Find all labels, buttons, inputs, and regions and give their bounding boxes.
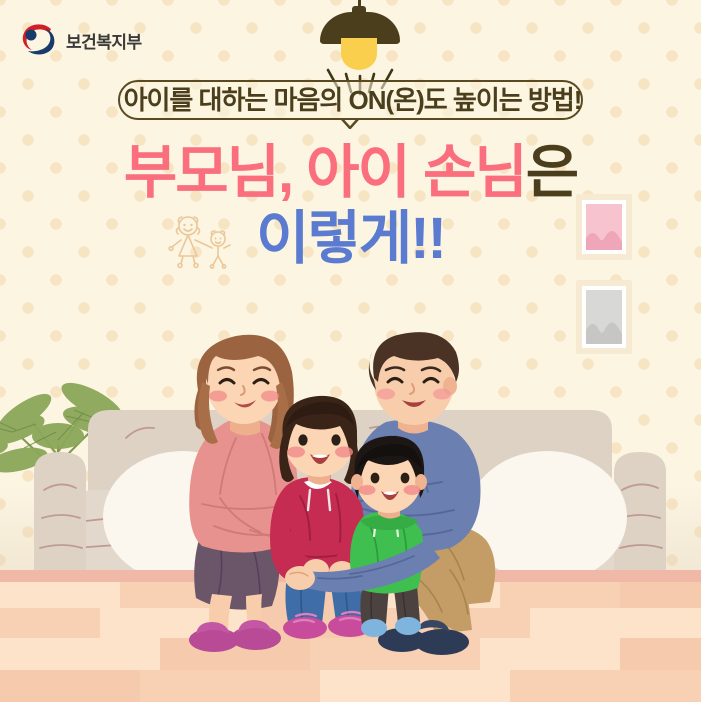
parent-child-doodle-icon <box>166 214 234 270</box>
subtitle-bubble: 아이를 대하는 마음의 ON(온)도 높이는 방법! <box>118 80 583 120</box>
girl-figure <box>270 396 372 639</box>
title-line1-dark: 은 <box>526 140 577 205</box>
logo-text: 보건복지부 <box>66 28 142 53</box>
title-line2-blue: 이렇게!! <box>256 206 445 271</box>
title-line1-pink: 부모님, 아이 손님 <box>124 140 526 205</box>
subtitle-text: 아이를 대하는 마음의 ON(온)도 높이는 방법! <box>120 82 585 118</box>
mother-slipper-right <box>231 626 281 650</box>
taegeuk-icon <box>18 22 58 58</box>
family-illustration <box>150 330 570 660</box>
boy-sock-right <box>395 617 421 635</box>
frame-art-bottom-icon <box>586 290 622 344</box>
boy-figure <box>350 436 427 637</box>
ministry-logo: 보건복지부 <box>18 22 168 58</box>
title-line-1: 부모님, 아이 손님은 <box>0 142 701 204</box>
card-news-poster: 보건복지부 아이를 대하는 마음의 ON(온)도 높이는 방법! 부모님, 아이… <box>0 0 701 702</box>
bubble-tail-icon <box>341 118 359 129</box>
boy-sock-left <box>361 619 387 637</box>
wall-frame-bottom <box>576 280 632 354</box>
title-line-2: 이렇게!! <box>0 208 701 270</box>
